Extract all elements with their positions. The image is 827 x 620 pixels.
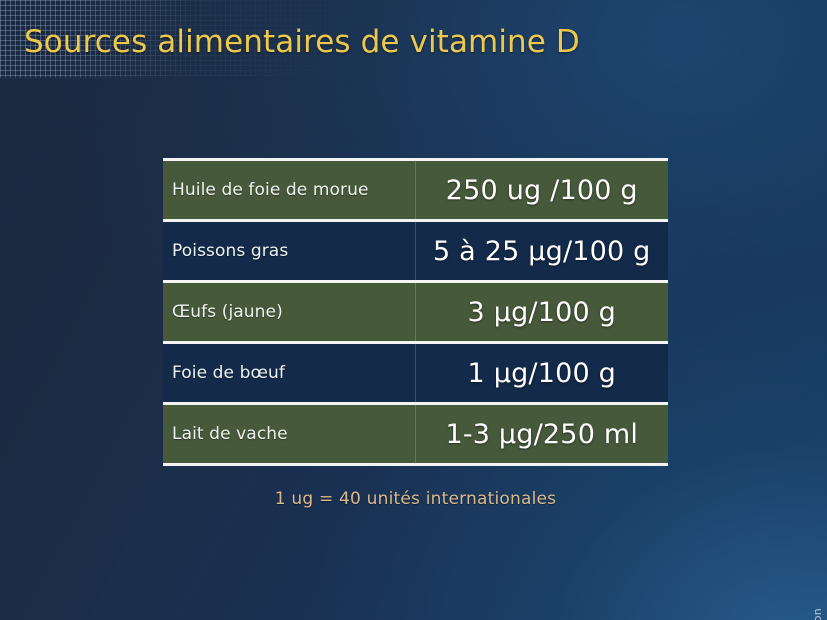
slide: Sources alimentaires de vitamine D Huile…: [0, 0, 827, 620]
food-label-cell: Huile de foie de morue: [163, 160, 415, 221]
food-label-cell: Poissons gras: [163, 221, 415, 282]
food-label-cell: Œufs (jaune): [163, 282, 415, 343]
vitamin-d-amount-cell: 1-3 µg/250 ml: [415, 404, 668, 465]
copyright-notice: Toute reproduction interdite sans autori…: [811, 608, 824, 620]
vitamin-d-amount-cell: 5 à 25 µg/100 g: [415, 221, 668, 282]
table-row: Poissons gras5 à 25 µg/100 g: [163, 221, 668, 282]
food-sources-table: Huile de foie de morue250 ug /100 gPoiss…: [163, 158, 668, 466]
table-row: Lait de vache1-3 µg/250 ml: [163, 404, 668, 465]
table-row: Foie de bœuf1 µg/100 g: [163, 343, 668, 404]
vitamin-d-amount-cell: 3 µg/100 g: [415, 282, 668, 343]
food-label-cell: Foie de bœuf: [163, 343, 415, 404]
page-title: Sources alimentaires de vitamine D: [24, 24, 580, 60]
vitamin-d-sources-table: Huile de foie de morue250 ug /100 gPoiss…: [163, 158, 668, 466]
table-body: Huile de foie de morue250 ug /100 gPoiss…: [163, 160, 668, 465]
vitamin-d-amount-cell: 250 ug /100 g: [415, 160, 668, 221]
table-row: Huile de foie de morue250 ug /100 g: [163, 160, 668, 221]
food-label-cell: Lait de vache: [163, 404, 415, 465]
vitamin-d-amount-cell: 1 µg/100 g: [415, 343, 668, 404]
table-caption: 1 ug = 40 unités internationales: [163, 489, 668, 509]
table-row: Œufs (jaune)3 µg/100 g: [163, 282, 668, 343]
